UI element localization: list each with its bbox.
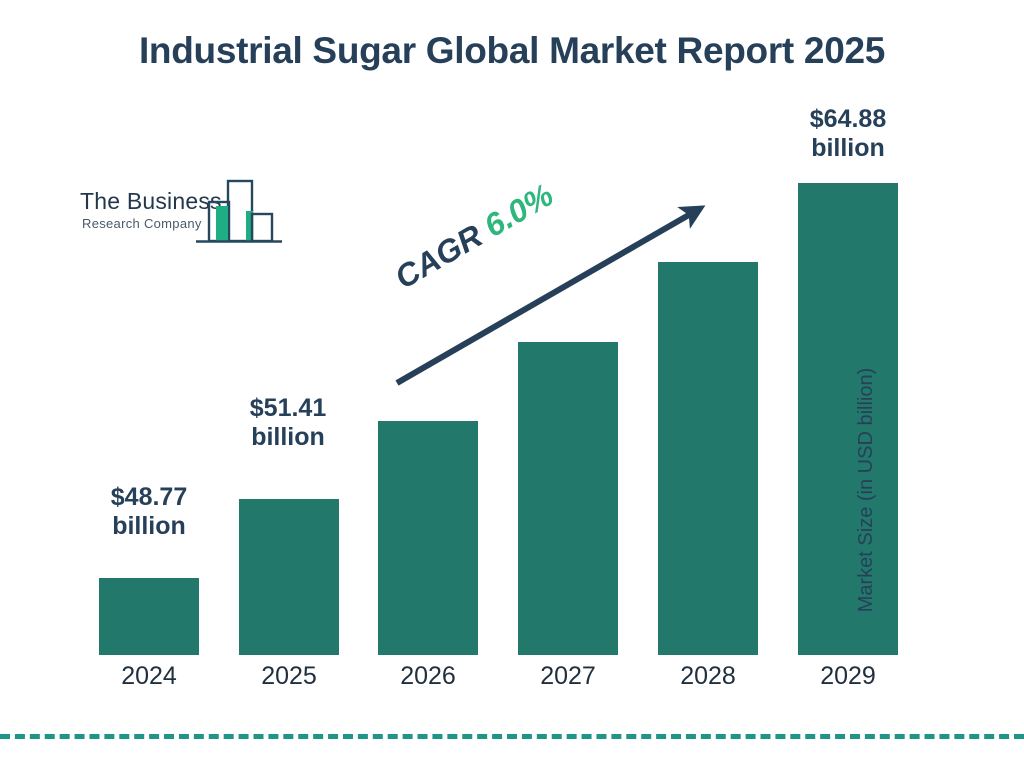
bar-2028	[658, 262, 758, 655]
bar-chart-plot-area: $48.77 billion $51.41 billion $64.88 bil…	[0, 0, 1024, 768]
x-axis-label-2029: 2029	[798, 662, 898, 691]
x-axis-label-2024: 2024	[99, 662, 199, 691]
bar-2026	[378, 421, 478, 655]
footer-divider	[0, 734, 1024, 739]
cagr-annotation: CAGR 6.0%	[389, 176, 560, 296]
cagr-value: 6.0%	[478, 176, 559, 244]
bar-2024	[99, 578, 199, 655]
cagr-label: CAGR	[389, 217, 489, 295]
bar-value-label-2025: $51.41 billion	[218, 394, 358, 453]
bar-value-unit-2025: billion	[251, 423, 325, 451]
x-axis-label-2026: 2026	[378, 662, 478, 691]
bar-value-label-2029: $64.88 billion	[783, 105, 913, 164]
bar-value-label-2024: $48.77 billion	[99, 483, 199, 542]
bar-value-unit-2029: billion	[811, 134, 885, 162]
chart-page: Industrial Sugar Global Market Report 20…	[0, 0, 1024, 768]
bar-2025	[239, 499, 339, 655]
bar-value-amount-2024: $48.77	[111, 483, 187, 511]
x-axis-label-2027: 2027	[518, 662, 618, 691]
bar-value-unit-2024: billion	[112, 512, 186, 540]
y-axis-title: Market Size (in USD billion)	[855, 320, 878, 660]
x-axis-label-2028: 2028	[658, 662, 758, 691]
x-axis-label-2025: 2025	[239, 662, 339, 691]
bar-value-amount-2025: $51.41	[250, 394, 326, 422]
bar-value-amount-2029: $64.88	[810, 105, 886, 133]
bar-2029	[798, 183, 898, 655]
bar-2027	[518, 342, 618, 655]
